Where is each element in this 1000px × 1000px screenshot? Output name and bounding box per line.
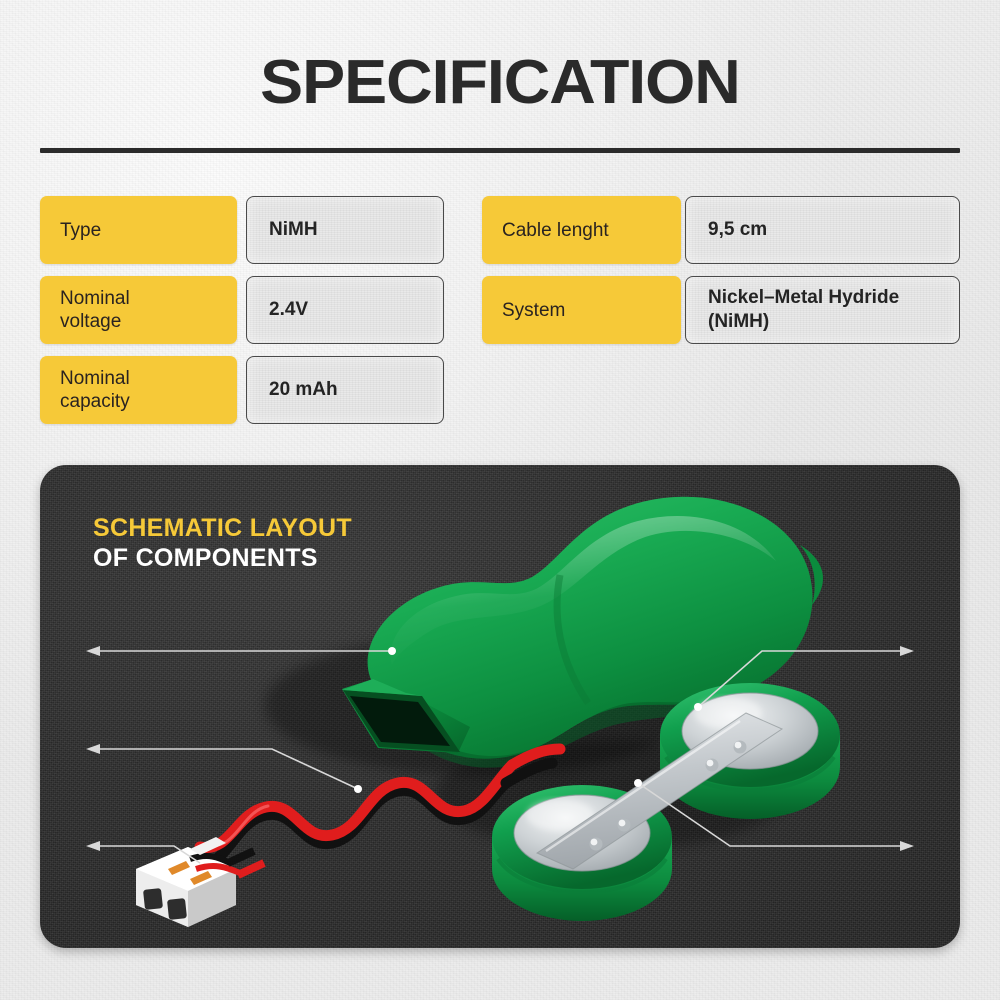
page-title: SPECIFICATION xyxy=(0,52,1000,114)
spec-row-cable-length: Cable lenght 9,5 cm xyxy=(482,196,960,264)
spec-label-type: Type xyxy=(40,196,237,264)
spec-label-cable-length-text: Cable lenght xyxy=(502,219,609,242)
header-divider xyxy=(40,148,960,153)
spec-label-nominal-voltage-line1: Nominal xyxy=(60,288,130,309)
spec-label-cable-length: Cable lenght xyxy=(482,196,681,264)
leader-arrow-left xyxy=(86,646,100,656)
spec-value-nominal-voltage-text: 2.4V xyxy=(269,298,308,322)
spec-value-type: NiMH xyxy=(246,196,444,264)
spec-value-nominal-capacity: 20 mAh xyxy=(246,356,444,424)
spec-value-type-text: NiMH xyxy=(269,218,318,242)
spec-label-system-text: System xyxy=(502,299,565,322)
spec-label-nominal-capacity: Nominal capacity xyxy=(40,356,237,424)
spec-label-nominal-capacity-line1: Nominal xyxy=(60,368,130,389)
spec-value-nominal-capacity-text: 20 mAh xyxy=(269,378,338,402)
leader-wires xyxy=(92,749,358,789)
spec-value-cable-length-text: 9,5 cm xyxy=(708,218,767,242)
spec-label-nominal-voltage: Nominal voltage xyxy=(40,276,237,344)
spec-row-system: System Nickel–Metal Hydride (NiMH) xyxy=(482,276,960,344)
spec-value-cable-length: 9,5 cm xyxy=(685,196,960,264)
spec-row-nominal-voltage: Nominal voltage 2.4V xyxy=(40,276,444,344)
leader-endpoint xyxy=(354,785,362,793)
specification-page: SPECIFICATION Type NiMH Nominal voltage … xyxy=(0,0,1000,1000)
spec-value-nominal-voltage: 2.4V xyxy=(246,276,444,344)
leader-endpoint xyxy=(694,703,702,711)
schematic-heading-line2: OF COMPONENTS xyxy=(93,543,352,573)
schematic-heading: SCHEMATIC LAYOUT OF COMPONENTS xyxy=(93,513,352,573)
schematic-heading-line1: SCHEMATIC LAYOUT xyxy=(93,513,352,543)
spec-row-nominal-capacity: Nominal capacity 20 mAh xyxy=(40,356,444,424)
spec-label-system: System xyxy=(482,276,681,344)
leader-arrow-left xyxy=(86,841,100,851)
spec-value-system-line1: Nickel–Metal Hydride xyxy=(708,287,899,308)
leader-endpoint xyxy=(388,647,396,655)
spec-value-system: Nickel–Metal Hydride (NiMH) xyxy=(685,276,960,344)
leader-arrow-right xyxy=(900,841,914,851)
spec-row-type: Type NiMH xyxy=(40,196,444,264)
leader-endpoint xyxy=(634,779,642,787)
schematic-panel: SCHEMATIC LAYOUT OF COMPONENTS xyxy=(40,465,960,948)
leader-arrow-left xyxy=(86,744,100,754)
spec-value-system-line2: (NiMH) xyxy=(708,311,769,332)
leader-connector xyxy=(92,846,200,863)
leader-coin-cell xyxy=(698,651,908,707)
leader-tab xyxy=(638,783,908,846)
spec-label-nominal-capacity-line2: capacity xyxy=(60,391,130,412)
leader-arrow-right xyxy=(900,646,914,656)
spec-label-type-text: Type xyxy=(60,219,101,242)
spec-label-nominal-voltage-line2: voltage xyxy=(60,311,121,332)
